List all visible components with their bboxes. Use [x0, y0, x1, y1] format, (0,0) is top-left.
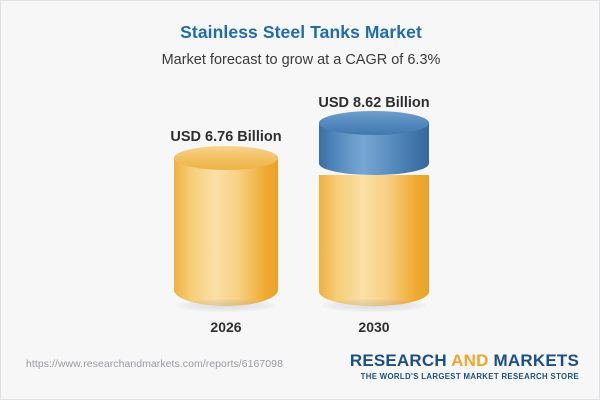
bar-value-label-2026: USD 6.76 Billion	[170, 129, 281, 145]
logo-word-research: RESEARCH	[350, 351, 447, 370]
logo-word-markets: MARKETS	[494, 351, 579, 370]
bar-group-2026: USD 6.76 Billion 2026	[174, 1, 278, 346]
bar-shadow-2026	[176, 299, 276, 312]
source-url-link[interactable]: https://www.researchandmarkets.com/repor…	[26, 358, 283, 370]
cylinder-top-cap-2026	[174, 146, 278, 170]
bar-segment-growth-2030	[319, 123, 429, 175]
bar-segment-base-2026	[174, 158, 278, 306]
logo-wordmark: RESEARCH AND MARKETS	[350, 352, 579, 370]
cylinder-top-cap-2030	[319, 111, 429, 135]
bar-group-2030: USD 8.62 Billion 2030	[319, 1, 429, 346]
logo-tagline: THE WORLD'S LARGEST MARKET RESEARCH STOR…	[350, 372, 579, 381]
chart-plot-area: USD 6.76 Billion 2026 USD 8.62 Billion 2…	[1, 1, 600, 346]
footer: https://www.researchandmarkets.com/repor…	[1, 346, 600, 399]
category-label-2030: 2030	[358, 319, 389, 335]
cylinder-2026	[174, 158, 278, 306]
bar-value-label-2030: USD 8.62 Billion	[318, 95, 429, 111]
logo-word-and: AND	[451, 351, 488, 370]
bar-shadow-2030	[321, 299, 427, 312]
infographic-card: Stainless Steel Tanks Market Market fore…	[0, 0, 600, 400]
category-label-2026: 2026	[210, 319, 241, 335]
cylinder-2030	[319, 123, 429, 306]
research-and-markets-logo[interactable]: RESEARCH AND MARKETS THE WORLD'S LARGEST…	[350, 352, 579, 381]
bar-segment-base-2030	[319, 175, 429, 306]
